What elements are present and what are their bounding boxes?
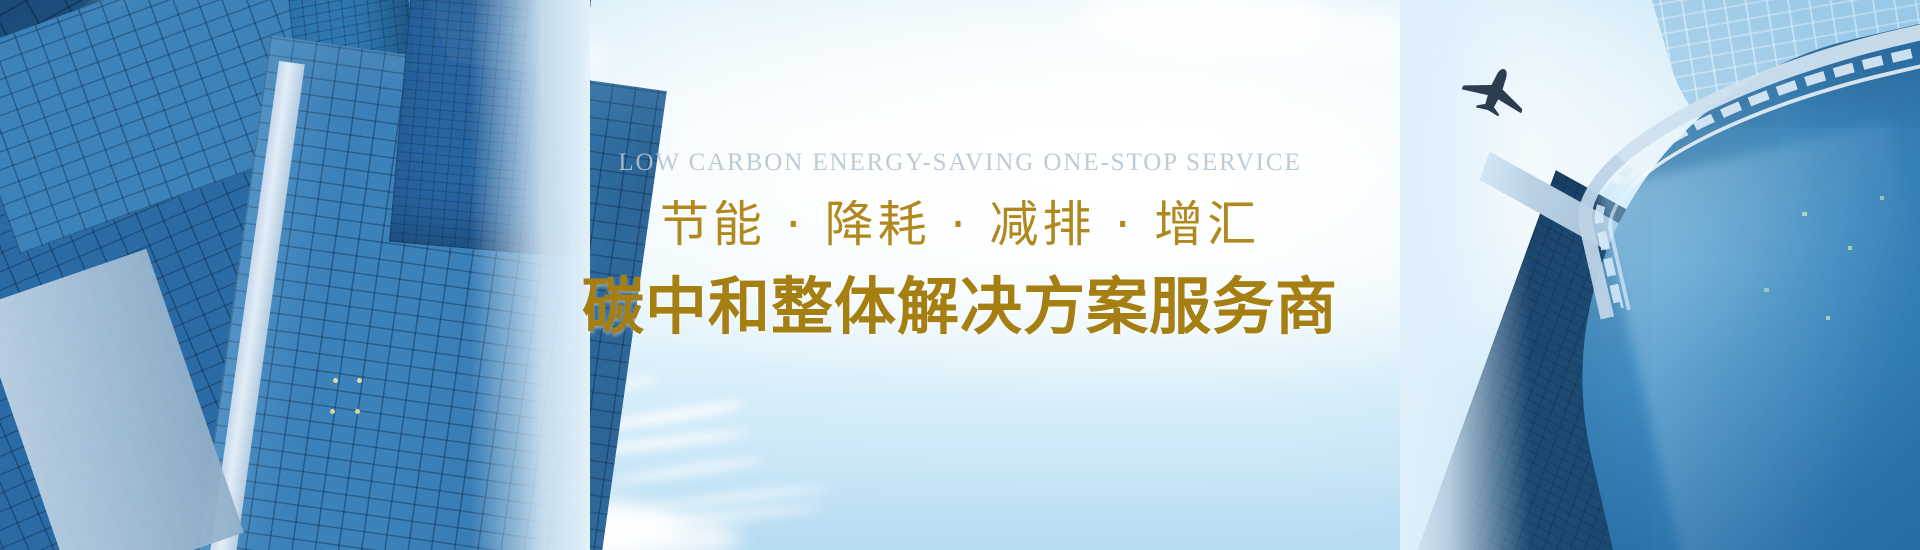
airplane-icon (1462, 62, 1532, 118)
left-cluster-edge-fade (470, 0, 590, 550)
hero-banner: LOW CARBON ENERGY-SAVING ONE-STOP SERVIC… (0, 0, 1920, 550)
